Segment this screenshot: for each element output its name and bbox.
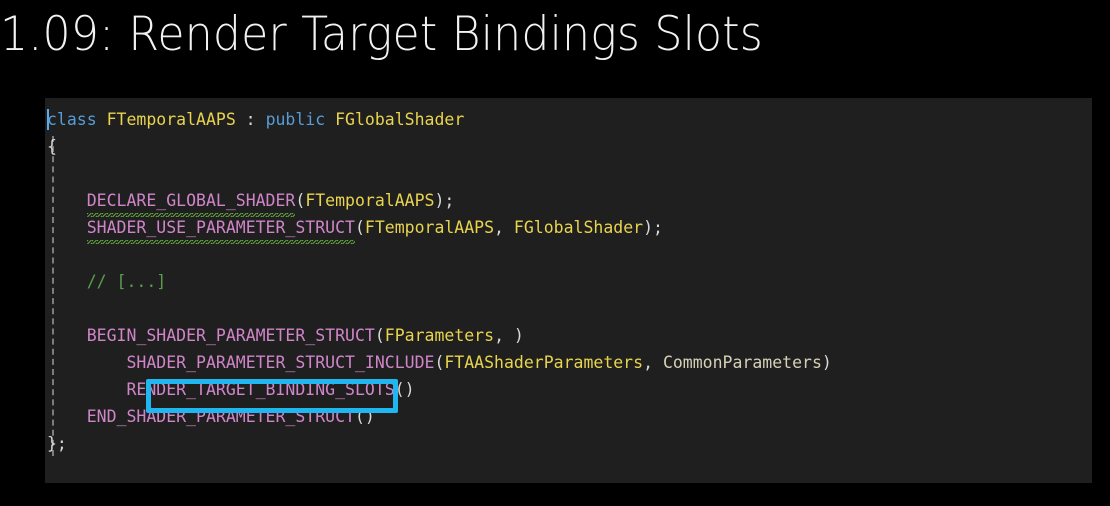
code-token-keyword: public xyxy=(266,110,326,129)
code-token-space xyxy=(47,407,87,426)
code-line xyxy=(45,295,1092,322)
code-token-macro: BEGIN_SHADER_PARAMETER_STRUCT xyxy=(87,326,375,345)
code-token-punc: }; xyxy=(47,434,67,453)
code-token-space xyxy=(47,326,87,345)
code-lines-container[interactable]: class FTemporalAAPS : public FGlobalShad… xyxy=(45,106,1092,457)
code-token-space xyxy=(47,380,126,399)
code-line: RENDER_TARGET_BINDING_SLOTS() xyxy=(45,376,1092,403)
code-token-type: FTemporalAAPS xyxy=(305,191,434,210)
code-token-punc: ); xyxy=(434,191,454,210)
code-token-type: FTAAShaderParameters xyxy=(444,353,643,372)
code-token-punc: () xyxy=(355,407,375,426)
code-token-macro: SHADER_USE_PARAMETER_STRUCT xyxy=(87,214,355,241)
code-line: BEGIN_SHADER_PARAMETER_STRUCT(FParameter… xyxy=(45,322,1092,349)
code-token-punc: ); xyxy=(643,218,663,237)
code-token-punc: ( xyxy=(295,191,305,210)
code-token-punc: ( xyxy=(434,353,444,372)
code-line xyxy=(45,160,1092,187)
code-token-type: FTemporalAAPS xyxy=(365,218,494,237)
code-token-punc: , ) xyxy=(494,326,524,345)
code-token-punc: : xyxy=(236,110,266,129)
code-token-comment: // [...] xyxy=(87,272,166,291)
code-line xyxy=(45,241,1092,268)
code-token-macro: SHADER_PARAMETER_STRUCT_INCLUDE xyxy=(126,353,434,372)
code-block: class FTemporalAAPS : public FGlobalShad… xyxy=(45,98,1092,483)
code-token-space xyxy=(97,110,107,129)
code-line: class FTemporalAAPS : public FGlobalShad… xyxy=(45,106,1092,133)
code-line: }; xyxy=(45,430,1092,457)
code-token-type: FParameters xyxy=(385,326,494,345)
code-token-space xyxy=(47,218,87,237)
code-token-punc: ) xyxy=(822,353,832,372)
code-token-space xyxy=(47,272,87,291)
code-line: SHADER_PARAMETER_STRUCT_INCLUDE(FTAAShad… xyxy=(45,349,1092,376)
code-token-space xyxy=(47,191,87,210)
code-token-punc: { xyxy=(47,137,57,156)
code-token-macro: END_SHADER_PARAMETER_STRUCT xyxy=(87,407,355,426)
code-line: // [...] xyxy=(45,268,1092,295)
code-token-punc: () xyxy=(395,380,415,399)
code-token-punc: , xyxy=(494,218,514,237)
page-title: 1.09: Render Target Bindings Slots xyxy=(0,0,1043,74)
code-token-keyword: class xyxy=(47,110,97,129)
code-token-space xyxy=(47,353,126,372)
code-token-type: FGlobalShader xyxy=(335,110,464,129)
code-token-type: FTemporalAAPS xyxy=(107,110,236,129)
code-token-punc: , xyxy=(643,353,663,372)
code-token-macro: RENDER_TARGET_BINDING_SLOTS xyxy=(126,380,394,399)
code-token-space xyxy=(325,110,335,129)
code-token-type: FGlobalShader xyxy=(514,218,643,237)
code-token-punc: ( xyxy=(355,218,365,237)
code-line: END_SHADER_PARAMETER_STRUCT() xyxy=(45,403,1092,430)
code-line: SHADER_USE_PARAMETER_STRUCT(FTemporalAAP… xyxy=(45,214,1092,241)
code-token-punc: ( xyxy=(375,326,385,345)
code-line: DECLARE_GLOBAL_SHADER(FTemporalAAPS); xyxy=(45,187,1092,214)
code-line: { xyxy=(45,133,1092,160)
code-token-plain: CommonParameters xyxy=(663,353,822,372)
code-token-macro: DECLARE_GLOBAL_SHADER xyxy=(87,187,296,214)
